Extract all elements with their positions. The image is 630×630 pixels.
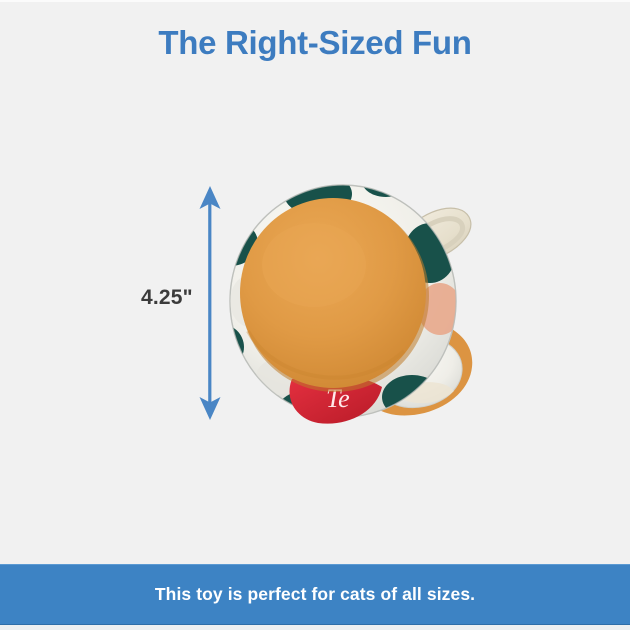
plush-teacup-toy-illustration: Te bbox=[226, 181, 488, 427]
top-hairline-divider bbox=[0, 0, 630, 2]
bottom-strip bbox=[0, 625, 630, 630]
product-image: Te bbox=[226, 181, 488, 427]
dimension-label: 4.25" bbox=[141, 286, 193, 310]
page-title: The Right-Sized Fun bbox=[0, 24, 630, 62]
double-headed-arrow-icon bbox=[194, 183, 226, 423]
banner-text: This toy is perfect for cats of all size… bbox=[155, 584, 475, 605]
bottom-banner: This toy is perfect for cats of all size… bbox=[0, 564, 630, 625]
measurement-arrow bbox=[194, 183, 226, 423]
product-infographic-page: The Right-Sized Fun 4.25" bbox=[0, 0, 630, 630]
